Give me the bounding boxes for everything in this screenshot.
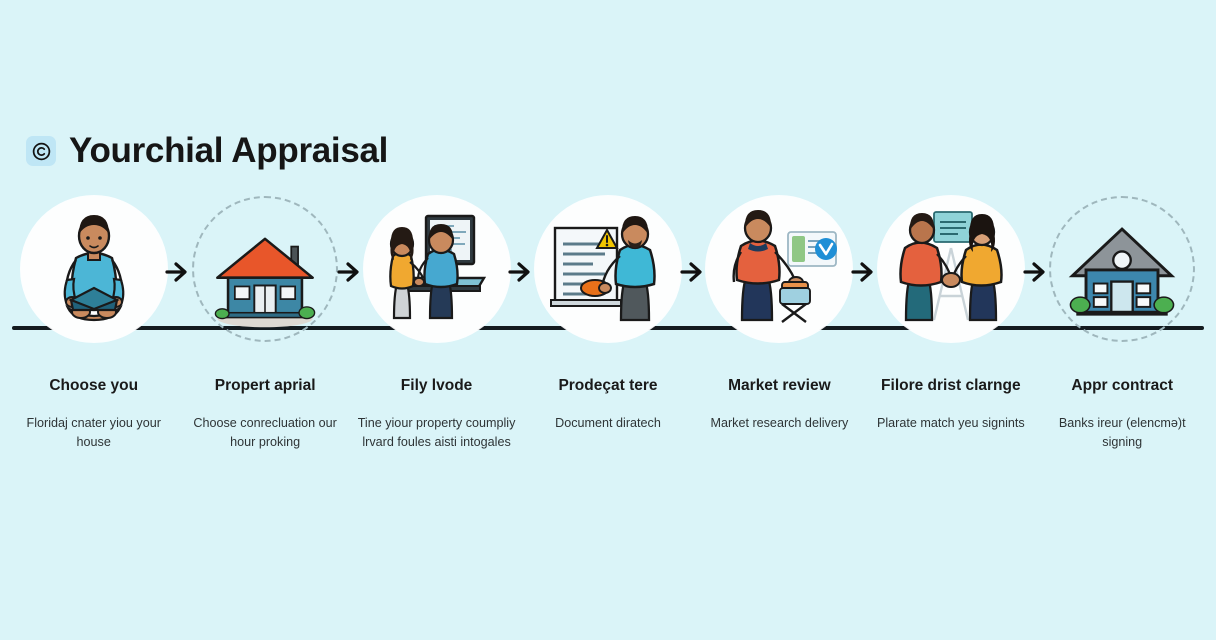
step-description: Banks ireur (elencmə)t signing: [1042, 414, 1202, 453]
arrow-right-icon: [849, 259, 879, 285]
house-orange-roof-illustration: [192, 196, 338, 342]
step-description: Market research delivery: [710, 414, 848, 434]
person-with-chart-card-illustration: [706, 196, 852, 342]
step-title: Choose you: [49, 377, 138, 396]
handshake-two-people-illustration: [878, 196, 1024, 342]
timeline-step-6[interactable]: Filore drist clarnge Plarate match yeu s…: [865, 196, 1036, 433]
page-title: Yourchial Appraisal: [69, 131, 388, 171]
arrow-right-icon: [335, 259, 365, 285]
person-sitting-with-laptop-illustration: [21, 196, 167, 342]
step-title: Prodeçat tere: [558, 377, 657, 396]
step-description: Choose conrecluation our hour proking: [185, 414, 345, 453]
step-title: Market review: [728, 377, 831, 396]
step-title: Fily lvode: [401, 377, 473, 396]
arrow-right-icon: [678, 259, 708, 285]
copyright-icon: [26, 136, 56, 166]
step-title: Propert aprial: [215, 377, 316, 396]
timeline-step-1[interactable]: Choose you Floridaj cnater yiou your hou…: [8, 196, 179, 453]
arrow-right-icon: [163, 259, 193, 285]
step-description: Plarate match yeu signints: [877, 414, 1025, 434]
step-description: Document diratech: [555, 414, 661, 434]
step-title: Appr contract: [1071, 377, 1173, 396]
timeline-step-4[interactable]: Prodeçat tere Document diratech: [522, 196, 693, 433]
house-blue-grey-roof-illustration: [1049, 196, 1195, 342]
step-description: Floridaj cnater yiou your house: [14, 414, 174, 453]
timeline-step-3[interactable]: Fily lvode Tine yiour property coumpliy …: [351, 196, 522, 453]
timeline-steps: Choose you Floridaj cnater yiou your hou…: [0, 196, 1216, 453]
timeline-step-2[interactable]: Propert aprial Choose conrecluation our …: [179, 196, 350, 453]
step-title: Filore drist clarnge: [881, 377, 1021, 396]
two-people-at-desk-with-monitor-illustration: [364, 196, 510, 342]
step-description: Tine yiour property coumpliy lrvard foul…: [357, 414, 517, 453]
arrow-right-icon: [1021, 259, 1051, 285]
timeline-step-5[interactable]: Market review Market research delivery: [694, 196, 865, 433]
timeline-step-7[interactable]: Appr contract Banks ireur (elencmə)t sig…: [1037, 196, 1208, 453]
man-with-document-warning-illustration: [535, 196, 681, 342]
arrow-right-icon: [506, 259, 536, 285]
page-header: Yourchial Appraisal: [26, 131, 388, 171]
